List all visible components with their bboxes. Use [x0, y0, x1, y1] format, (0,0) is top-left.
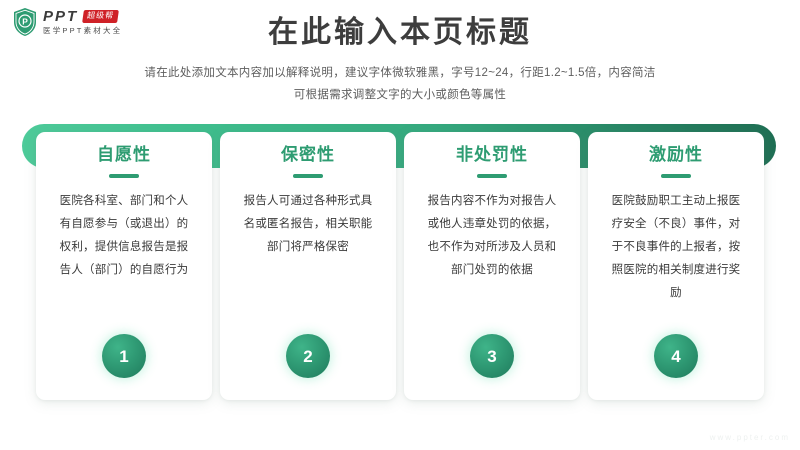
- card-divider: [661, 174, 691, 178]
- page-title: 在此输入本页标题: [0, 14, 800, 52]
- card-body-text: 报告内容不作为对报告人或他人违章处罚的依据，也不作为对所涉及人员和部门处罚的依据: [426, 190, 558, 282]
- card-number-badge: 2: [286, 334, 330, 378]
- card-divider: [477, 174, 507, 178]
- card-divider: [293, 174, 323, 178]
- principle-cards-row: 自愿性 医院各科室、部门和个人有自愿参与（或退出）的权利，提供信息报告是报告人（…: [0, 132, 800, 402]
- subtitle-line-1: 请在此处添加文本内容加以解释说明，建议字体微软雅黑，字号12~24，行距1.2~…: [0, 62, 800, 84]
- card-body-text: 报告人可通过各种形式具名或匿名报告，相关职能部门将严格保密: [242, 190, 374, 259]
- card-body-text: 医院鼓励职工主动上报医疗安全（不良）事件，对于不良事件的上报者，按照医院的相关制…: [610, 190, 742, 305]
- principle-card-2[interactable]: 保密性 报告人可通过各种形式具名或匿名报告，相关职能部门将严格保密 2: [220, 132, 396, 400]
- card-number-badge: 3: [470, 334, 514, 378]
- card-number-badge: 4: [654, 334, 698, 378]
- card-divider: [109, 174, 139, 178]
- principle-card-4[interactable]: 激励性 医院鼓励职工主动上报医疗安全（不良）事件，对于不良事件的上报者，按照医院…: [588, 132, 764, 400]
- site-watermark: www.ppter.com: [710, 433, 790, 442]
- card-title: 保密性: [281, 146, 335, 163]
- card-title: 激励性: [649, 146, 703, 163]
- card-title: 非处罚性: [456, 146, 528, 163]
- subtitle-line-2: 可根据需求调整文字的大小或颜色等属性: [0, 84, 800, 106]
- principle-card-3[interactable]: 非处罚性 报告内容不作为对报告人或他人违章处罚的依据，也不作为对所涉及人员和部门…: [404, 132, 580, 400]
- card-body-text: 医院各科室、部门和个人有自愿参与（或退出）的权利，提供信息报告是报告人（部门）的…: [58, 190, 190, 282]
- card-number-badge: 1: [102, 334, 146, 378]
- principle-card-1[interactable]: 自愿性 医院各科室、部门和个人有自愿参与（或退出）的权利，提供信息报告是报告人（…: [36, 132, 212, 400]
- card-title: 自愿性: [97, 146, 151, 163]
- page-subtitle: 请在此处添加文本内容加以解释说明，建议字体微软雅黑，字号12~24，行距1.2~…: [0, 62, 800, 107]
